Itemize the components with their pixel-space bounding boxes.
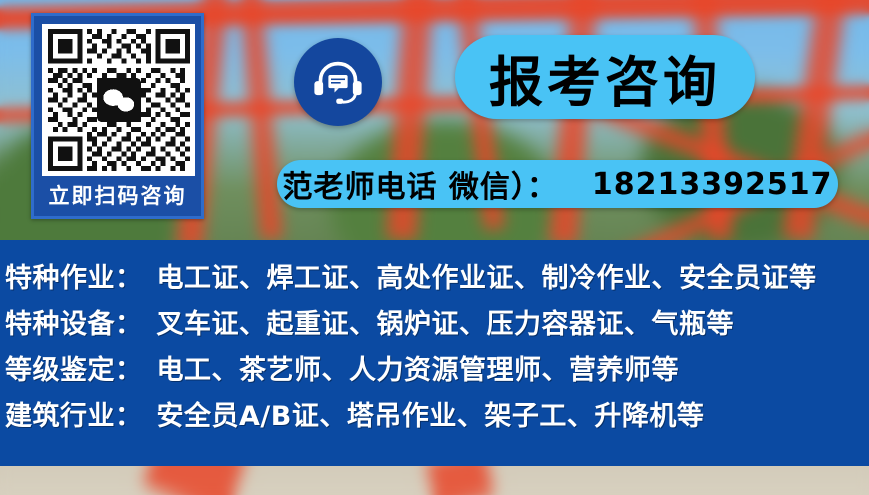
category-items: 叉车证、起重证、锅炉证、压力容器证、气瓶等 xyxy=(157,302,735,348)
course-category-list: 特种作业： 电工证、焊工证、高处作业证、制冷作业、安全员证等 特种设备： 叉车证… xyxy=(0,240,869,440)
category-items: 安全员A/B证、塔吊作业、架子工、升降机等 xyxy=(157,394,705,440)
qr-card[interactable]: 立即扫码咨询 xyxy=(31,13,204,219)
promo-poster: 立即扫码咨询 报考咨询 范老师电话 微信）： 18213392517 特种作业：… xyxy=(0,0,869,495)
headset-glyph-icon xyxy=(310,54,366,110)
contact-label: 范老师电话 微信）： xyxy=(282,162,557,206)
title-badge[interactable]: 报考咨询 xyxy=(455,35,755,119)
category-label: 等级鉴定： xyxy=(5,348,143,394)
contact-badge[interactable]: 范老师电话 微信）： 18213392517 xyxy=(277,160,838,208)
course-category-row: 建筑行业： 安全员A/B证、塔吊作业、架子工、升降机等 xyxy=(5,394,869,440)
course-category-row: 特种作业： 电工证、焊工证、高处作业证、制冷作业、安全员证等 xyxy=(5,256,869,302)
course-categories-panel: 特种作业： 电工证、焊工证、高处作业证、制冷作业、安全员证等 特种设备： 叉车证… xyxy=(0,240,869,466)
headset-support-icon[interactable] xyxy=(294,38,382,126)
category-items: 电工、茶艺师、人力资源管理师、营养师等 xyxy=(157,348,680,394)
category-items: 电工证、焊工证、高处作业证、制冷作业、安全员证等 xyxy=(157,256,817,302)
course-category-row: 等级鉴定： 电工、茶艺师、人力资源管理师、营养师等 xyxy=(5,348,869,394)
qr-code-area[interactable] xyxy=(42,24,195,176)
category-label: 特种作业： xyxy=(5,256,143,302)
contact-number[interactable]: 18213392517 xyxy=(592,167,833,202)
title-badge-label: 报考咨询 xyxy=(489,38,721,117)
category-label: 建筑行业： xyxy=(5,394,143,440)
category-label: 特种设备： xyxy=(5,302,143,348)
qr-card-caption: 立即扫码咨询 xyxy=(34,180,201,210)
qr-code-icon xyxy=(48,29,190,171)
course-category-row: 特种设备： 叉车证、起重证、锅炉证、压力容器证、气瓶等 xyxy=(5,302,869,348)
